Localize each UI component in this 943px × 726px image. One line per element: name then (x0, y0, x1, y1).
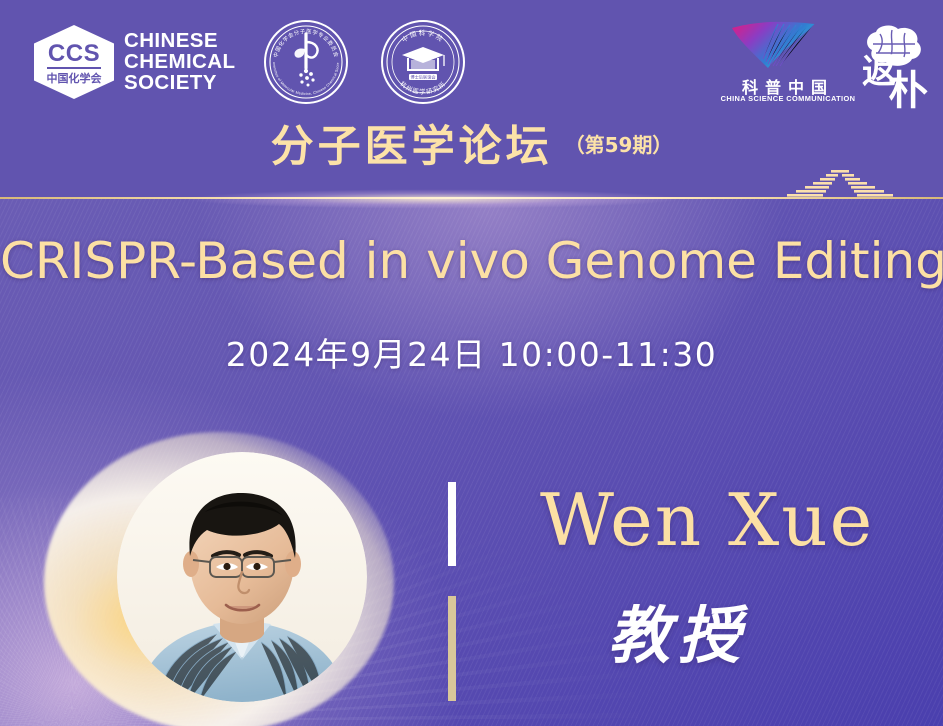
ccs-divider (47, 67, 101, 69)
speaker-portrait (117, 452, 367, 702)
stepped-arch-ornament (785, 168, 895, 199)
molecular-medicine-seal: 中国化学会分子医学专业委员会 Committee of Molecular Me… (264, 20, 348, 104)
seal-center-chinese: 博士后联谊会 (410, 74, 436, 81)
ccs-abbr: CCS (34, 40, 114, 68)
fanpu-char-2: 朴 (888, 58, 928, 116)
china-science-communication-logo: 科普中国 CHINA SCIENCE COMMUNICATION (718, 18, 858, 104)
forum-issue-number: （第59期） (565, 133, 673, 157)
forum-title: 分子医学论坛 (271, 122, 553, 172)
circular-seal-icon: 中国化学会分子医学专业委员会 Committee of Molecular Me… (266, 22, 346, 102)
ccs-english-name: CHINESE CHEMICAL SOCIETY (124, 30, 235, 93)
talk-title: CRISPR-Based in vivo Genome Editing (0, 232, 943, 290)
speaker-portrait-wrapper (44, 432, 394, 726)
fanpu-logo: 返 朴 (860, 22, 928, 100)
ccs-en-line-3: SOCIETY (124, 72, 235, 93)
forum-title-line: 分子医学论坛（第59期） (0, 112, 943, 174)
gold-divider-line (0, 197, 943, 199)
gradient-wing-icon (718, 18, 858, 74)
ccs-en-line-1: CHINESE (124, 30, 235, 51)
accent-bar-gold (448, 596, 456, 701)
accent-bar-white (448, 482, 456, 566)
speaker-role: 教授 (608, 585, 748, 675)
seminar-poster: CCS 中国化学会 CHINESE CHEMICAL SOCIETY (0, 0, 943, 726)
logo-row: CCS 中国化学会 CHINESE CHEMICAL SOCIETY (0, 8, 943, 103)
postdoc-association-seal: 博士后联谊会 中国科学院 杭州医学研究所 (381, 20, 465, 104)
speaker-portrait-icon (117, 452, 367, 702)
ccs-en-line-2: CHEMICAL (124, 51, 235, 72)
graduation-cap-seal-icon: 博士后联谊会 中国科学院 杭州医学研究所 (383, 22, 463, 102)
speaker-name: Wen Xue (540, 478, 880, 562)
talk-date-time: 2024年9月24日 10:00-11:30 (0, 328, 943, 376)
kepu-english-name: CHINA SCIENCE COMMUNICATION (718, 94, 858, 103)
ccs-logo: CCS 中国化学会 (34, 25, 114, 99)
ccs-chinese-name: 中国化学会 (34, 70, 114, 86)
